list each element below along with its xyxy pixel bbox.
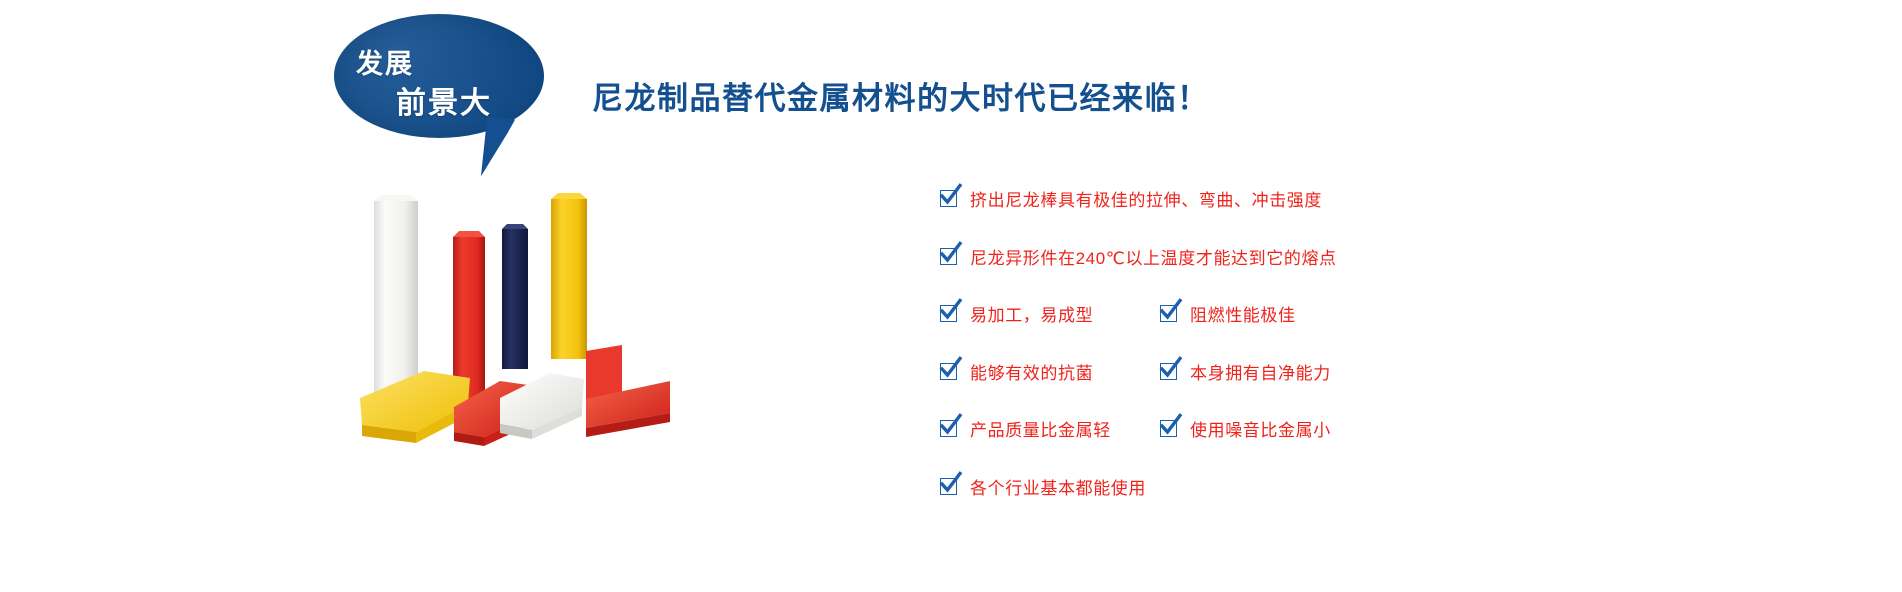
- speech-bubble-line-2: 前景大: [396, 78, 492, 122]
- feature-item-5-2: 使用噪音比金属小: [1160, 416, 1331, 441]
- checkbox-checked-icon: [940, 190, 957, 207]
- feature-list: 挤出尼龙棒具有极佳的拉伸、弯曲、冲击强度 尼龙异形件在240℃以上温度才能达到它…: [940, 186, 1500, 531]
- speech-bubble-tail: [481, 117, 515, 180]
- checkbox-checked-icon: [940, 248, 957, 265]
- navy-upright-bar: [502, 224, 528, 369]
- promo-banner: 发展 前景大 尼龙制品替代金属材料的大时代已经来临！: [0, 0, 1902, 592]
- feature-item-label: 本身拥有自净能力: [1190, 359, 1331, 384]
- feature-item-3-1: 易加工，易成型: [940, 301, 1093, 326]
- speech-bubble: 发展 前景大: [334, 14, 564, 179]
- speech-bubble-line-1: 发展: [356, 42, 414, 81]
- product-photo-illustration: [350, 185, 695, 455]
- feature-row: 挤出尼龙棒具有极佳的拉伸、弯曲、冲击强度: [940, 186, 1500, 244]
- feature-row: 能够有效的抗菌 本身拥有自净能力: [940, 359, 1500, 417]
- feature-row: 各个行业基本都能使用: [940, 474, 1500, 532]
- feature-item-4-1: 能够有效的抗菌: [940, 359, 1093, 384]
- feature-row: 产品质量比金属轻 使用噪音比金属小: [940, 416, 1500, 474]
- checkbox-checked-icon: [1160, 305, 1177, 322]
- checkbox-checked-icon: [940, 478, 957, 495]
- feature-item-label: 易加工，易成型: [970, 301, 1093, 326]
- feature-item-4-2: 本身拥有自净能力: [1160, 359, 1331, 384]
- feature-item-6-1: 各个行业基本都能使用: [940, 474, 1146, 499]
- checkbox-checked-icon: [940, 363, 957, 380]
- feature-item-label: 阻燃性能极佳: [1190, 301, 1296, 326]
- feature-row: 易加工，易成型 阻燃性能极佳: [940, 301, 1500, 359]
- feature-item-2-1: 尼龙异形件在240℃以上温度才能达到它的熔点: [940, 244, 1337, 269]
- feature-item-label: 各个行业基本都能使用: [970, 474, 1146, 499]
- white-upright-bar: [374, 195, 418, 406]
- yellow-upright-bar: [551, 193, 587, 359]
- feature-item-label: 使用噪音比金属小: [1190, 416, 1331, 441]
- page-title: 尼龙制品替代金属材料的大时代已经来临！: [592, 73, 1210, 118]
- feature-item-5-1: 产品质量比金属轻: [940, 416, 1111, 441]
- feature-item-1-1: 挤出尼龙棒具有极佳的拉伸、弯曲、冲击强度: [940, 186, 1322, 211]
- feature-item-label: 能够有效的抗菌: [970, 359, 1093, 384]
- checkbox-checked-icon: [940, 420, 957, 437]
- red-bracket-base: [586, 345, 670, 437]
- feature-item-label: 尼龙异形件在240℃以上温度才能达到它的熔点: [970, 244, 1337, 269]
- feature-row: 尼龙异形件在240℃以上温度才能达到它的熔点: [940, 244, 1500, 302]
- feature-item-label: 产品质量比金属轻: [970, 416, 1111, 441]
- product-photo: [350, 185, 695, 455]
- checkbox-checked-icon: [940, 305, 957, 322]
- feature-item-3-2: 阻燃性能极佳: [1160, 301, 1296, 326]
- feature-item-label: 挤出尼龙棒具有极佳的拉伸、弯曲、冲击强度: [970, 186, 1322, 211]
- checkbox-checked-icon: [1160, 363, 1177, 380]
- checkbox-checked-icon: [1160, 420, 1177, 437]
